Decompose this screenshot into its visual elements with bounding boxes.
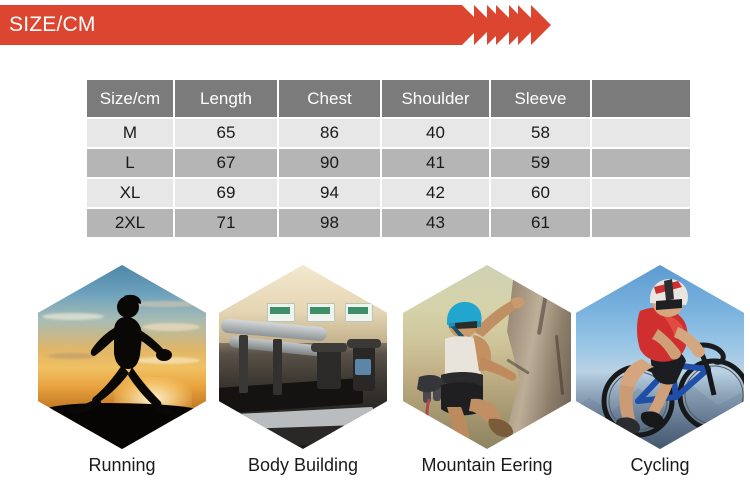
column-header-chest: Chest [278, 79, 381, 118]
table-row: M 65 86 40 58 [86, 118, 691, 148]
column-header-blank [591, 79, 691, 118]
runner-silhouette-icon [64, 293, 180, 419]
column-header-sleeve: Sleeve [490, 79, 591, 118]
cell-length: 65 [174, 118, 278, 148]
cell-size: L [86, 148, 174, 178]
treadmill-console [239, 335, 248, 393]
gym-poster [307, 303, 335, 322]
cell-shoulder: 42 [381, 178, 490, 208]
cell-chest: 90 [278, 148, 381, 178]
cell-blank [591, 148, 691, 178]
cell-blank [591, 178, 691, 208]
cyclist-icon [580, 273, 744, 445]
cell-shoulder: 43 [381, 208, 490, 238]
gym-machine [317, 347, 341, 389]
activity-feature-row: Running Body Building [0, 255, 750, 484]
cell-size: XL [86, 178, 174, 208]
size-banner: SIZE/CM [0, 5, 750, 45]
gym-poster [267, 303, 295, 322]
page-title: SIZE/CM [9, 5, 96, 45]
cell-shoulder: 40 [381, 118, 490, 148]
cell-sleeve: 58 [490, 118, 591, 148]
table-row: L 67 90 41 59 [86, 148, 691, 178]
table-row: XL 69 94 42 60 [86, 178, 691, 208]
feature-mountain-eering: Mountain Eering [399, 255, 575, 476]
cell-chest: 94 [278, 178, 381, 208]
gym-poster [345, 303, 373, 322]
cycling-photo [576, 265, 744, 449]
mountain-eering-photo [403, 265, 571, 449]
feature-body-building: Body Building [215, 255, 391, 476]
cell-length: 69 [174, 178, 278, 208]
running-photo [38, 265, 206, 449]
feature-label-mountain-eering: Mountain Eering [399, 455, 575, 476]
feature-running: Running [34, 255, 210, 476]
cell-length: 71 [174, 208, 278, 238]
gym-machine-arm [311, 343, 347, 352]
cell-chest: 86 [278, 118, 381, 148]
cell-chest: 98 [278, 208, 381, 238]
cell-blank [591, 118, 691, 148]
table-row: 2XL 71 98 43 61 [86, 208, 691, 238]
gym-machine-arm [347, 339, 381, 348]
feature-label-cycling: Cycling [572, 455, 748, 476]
table-header-row: Size/cm Length Chest Shoulder Sleeve [86, 79, 691, 118]
size-chart-table: Size/cm Length Chest Shoulder Sleeve M 6… [85, 78, 692, 239]
cell-sleeve: 60 [490, 178, 591, 208]
treadmill-console [273, 339, 282, 395]
cell-size: 2XL [86, 208, 174, 238]
cell-size: M [86, 118, 174, 148]
cell-blank [591, 208, 691, 238]
treadmill-deck [219, 424, 383, 448]
feature-cycling: Cycling [572, 255, 748, 476]
cell-sleeve: 61 [490, 208, 591, 238]
body-building-photo [219, 265, 387, 449]
column-header-length: Length [174, 79, 278, 118]
cell-length: 67 [174, 148, 278, 178]
column-header-shoulder: Shoulder [381, 79, 490, 118]
cell-sleeve: 59 [490, 148, 591, 178]
feature-label-running: Running [34, 455, 210, 476]
chevron-right-icon-3 [531, 5, 551, 45]
rock-climber-icon [411, 279, 531, 445]
column-header-size: Size/cm [86, 79, 174, 118]
feature-label-body-building: Body Building [215, 455, 391, 476]
cell-shoulder: 41 [381, 148, 490, 178]
gym-machine-screen [355, 359, 371, 375]
